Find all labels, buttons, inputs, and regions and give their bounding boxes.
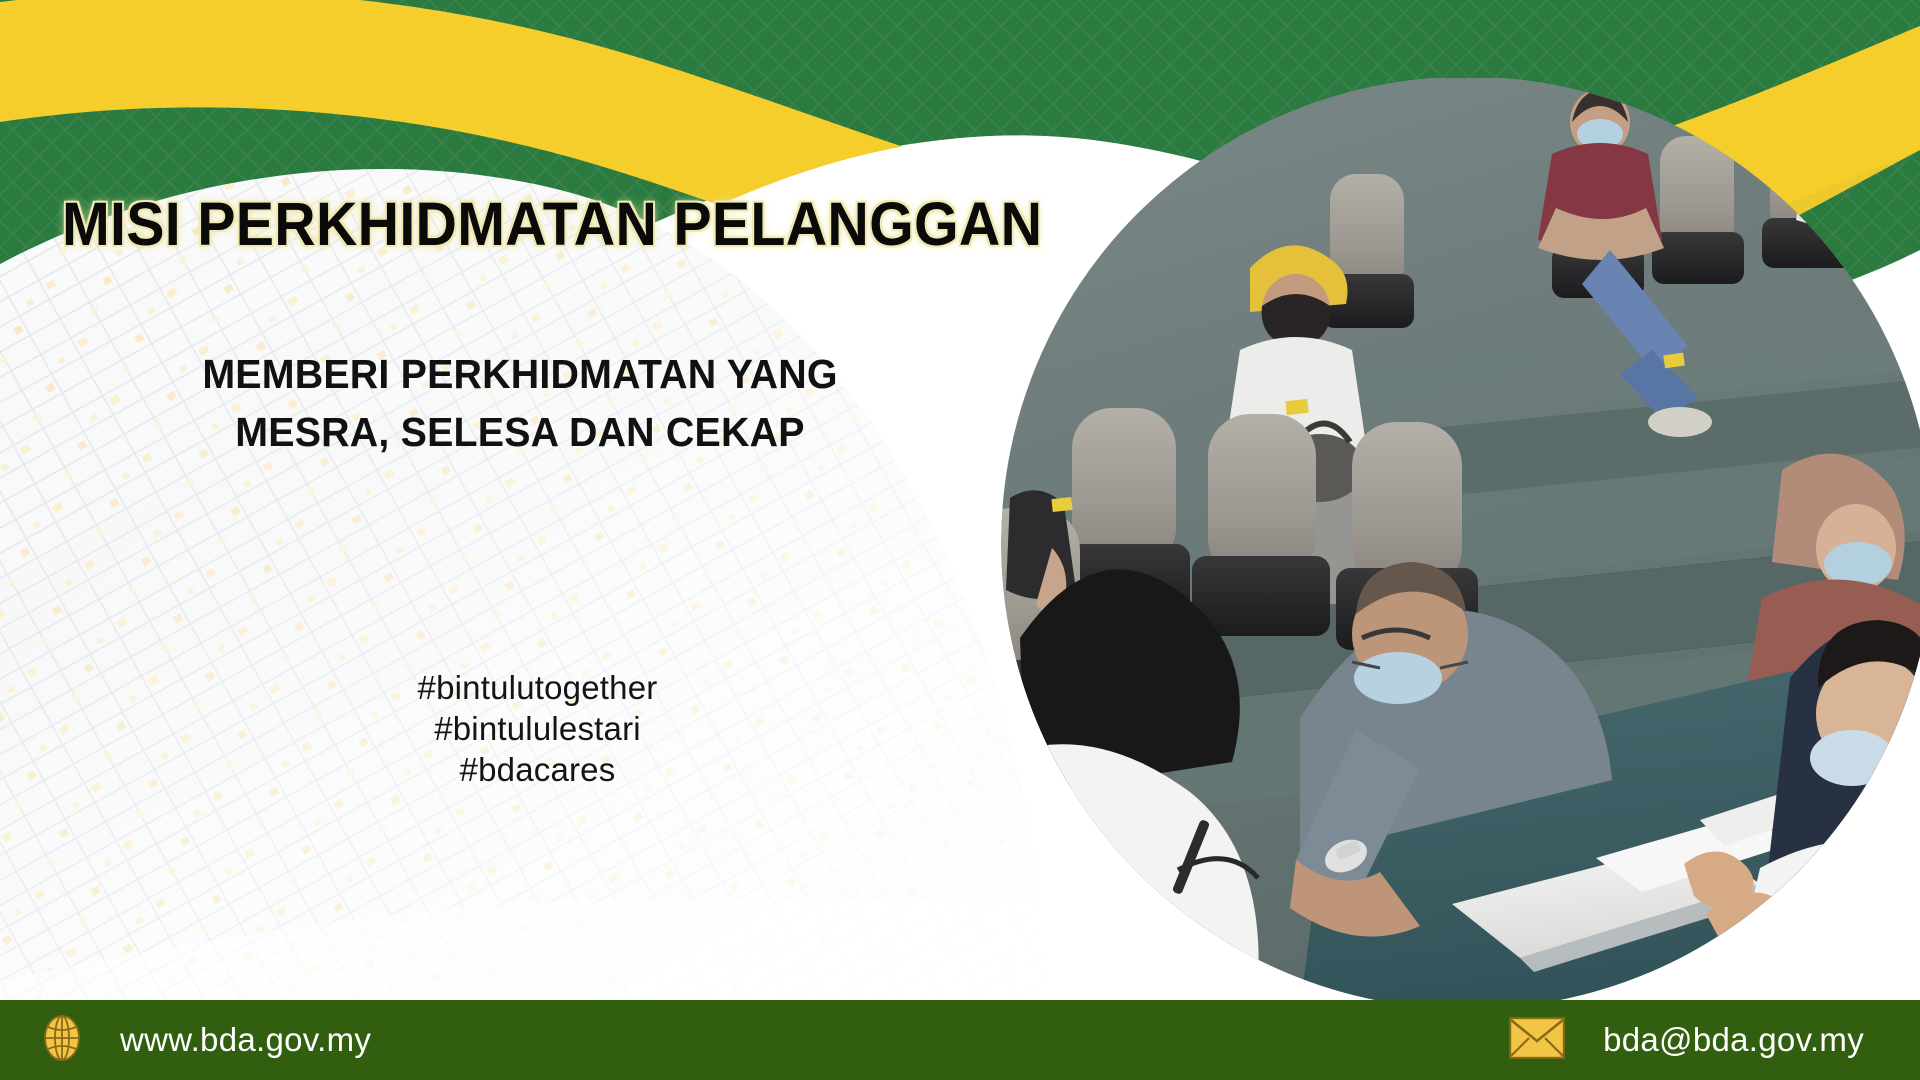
- footer-bar: www.bda.gov.my bda@bda.gov.my: [0, 1000, 1920, 1080]
- globe-icon: [38, 1014, 86, 1067]
- email-address[interactable]: bda@bda.gov.my: [1603, 1021, 1864, 1059]
- poster-banner: MISI PERKHIDMATAN PELANGGAN MEMBERI PERK…: [0, 0, 1920, 1080]
- website-url[interactable]: www.bda.gov.my: [120, 1021, 371, 1059]
- website-group[interactable]: www.bda.gov.my: [0, 1014, 371, 1067]
- event-photo: [1000, 78, 1920, 1008]
- envelope-icon: [1509, 1017, 1565, 1064]
- email-group[interactable]: bda@bda.gov.my: [1509, 1017, 1920, 1064]
